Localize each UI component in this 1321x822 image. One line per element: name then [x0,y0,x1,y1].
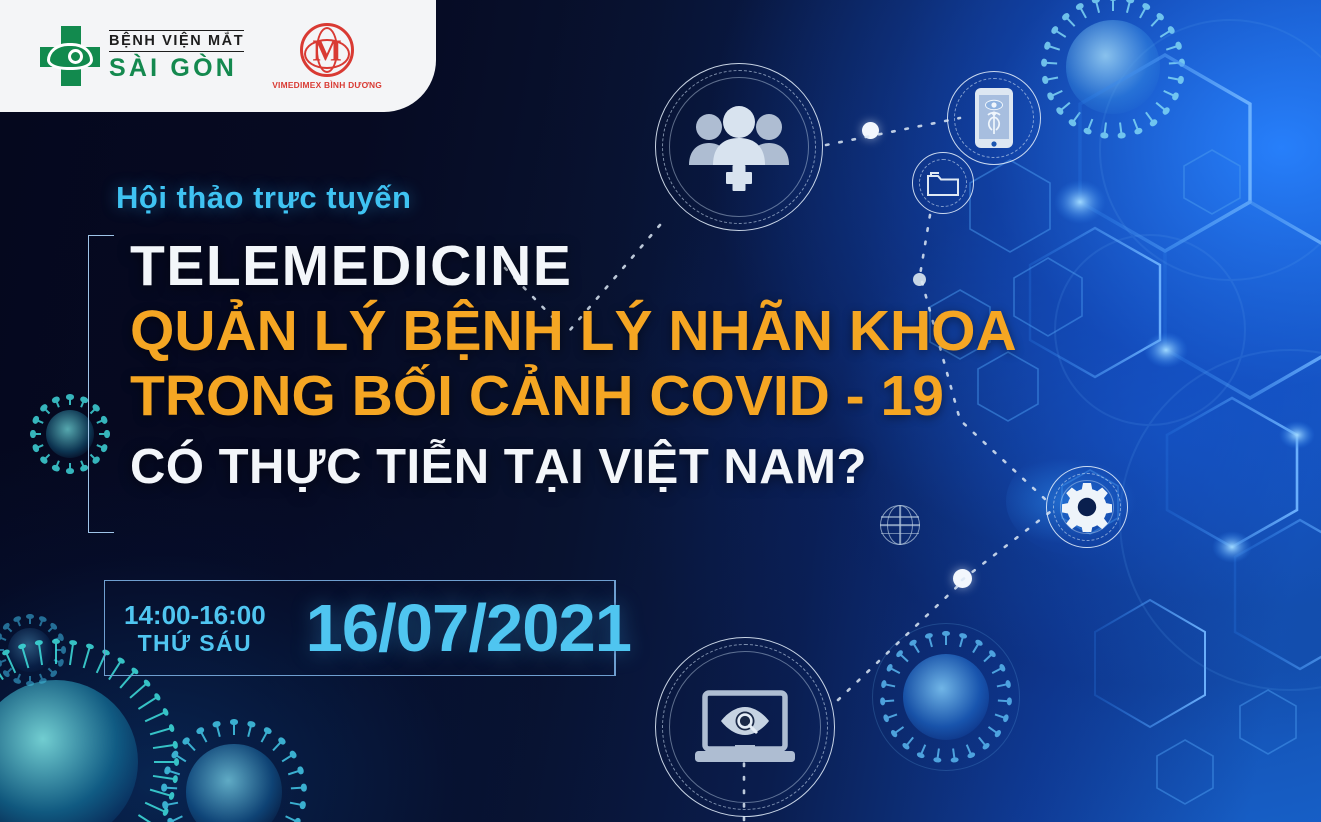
coronavirus-icon [1048,2,1178,132]
coronavirus-icon [886,637,1006,757]
kicker-text: Hội thảo trực tuyến [116,182,1017,213]
connector-node [862,122,879,139]
title-group: TELEMEDICINE QUẢN LÝ BỆNH LÝ NHÃN KHOA T… [104,239,1017,491]
circle-m-icon: M [300,23,354,77]
people-group-glyph [687,103,791,191]
schedule-weekday: THỨ SÁU [138,632,253,655]
decorative-bracket [88,235,114,533]
gear-glyph [1062,482,1112,532]
title-gold-line-1: QUẢN LÝ BỆNH LÝ NHÃN KHOA [130,304,1017,360]
partner-caption: VIMEDIMEX BÌNH DƯƠNG [272,80,382,90]
smartphone-glyph [973,86,1015,150]
headline-block: Hội thảo trực tuyến TELEMEDICINE QUẢN LÝ… [104,182,1017,491]
hospital-name-line2: SÀI GÒN [109,55,244,82]
title-question-line: CÓ THỰC TIỄN TẠI VIỆT NAM? [130,443,1017,491]
title-telemedicine: TELEMEDICINE [130,239,1017,295]
globe-icon [880,505,920,545]
schedule-date: 16/07/2021 [284,595,631,662]
coronavirus-icon [168,726,300,822]
connector-node [953,569,972,588]
sponsor-logo-panel: BỆNH VIỆN MẮT SÀI GÒN M VIMEDIMEX BÌNH D… [0,0,436,112]
smartphone-caduceus-icon [947,71,1041,165]
laptop-glyph [691,687,799,767]
green-cross-eye-icon [40,26,100,86]
vimedimex-binh-duong-logo: M VIMEDIMEX BÌNH DƯƠNG [272,23,382,90]
gear-icon [1046,466,1128,548]
schedule-band: 14:00-16:00 THỨ SÁU 16/07/2021 [104,580,616,676]
schedule-time-group: 14:00-16:00 THỨ SÁU [104,602,284,655]
vimedimex-monogram: M [303,34,351,65]
title-gold-line-2: TRONG BỐI CẢNH COVID - 19 [130,369,1017,425]
laptop-eye-exam-icon [655,637,835,817]
saigon-eye-hospital-logo: BỆNH VIỆN MẮT SÀI GÒN [40,26,244,86]
webinar-poster: BỆNH VIỆN MẮT SÀI GÒN M VIMEDIMEX BÌNH D… [0,0,1321,822]
hospital-name-line1: BỆNH VIỆN MẮT [109,30,244,52]
schedule-hours: 14:00-16:00 [124,602,266,628]
